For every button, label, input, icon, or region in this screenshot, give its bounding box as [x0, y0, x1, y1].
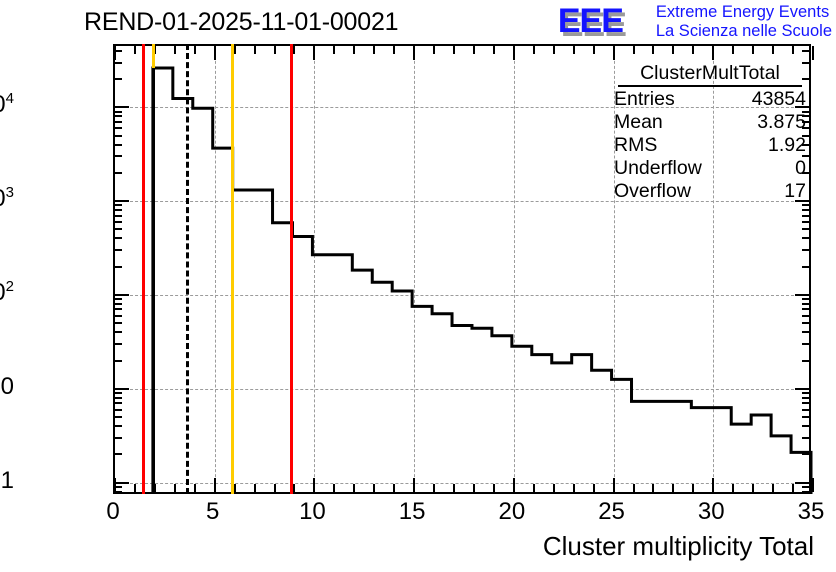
stats-row: Overflow17	[612, 180, 808, 203]
marker-line-red-high	[290, 44, 293, 494]
marker-line-gold-high	[231, 44, 234, 494]
x-axis-tick-label: 5	[206, 498, 219, 526]
stats-row-label: Overflow	[614, 180, 691, 203]
marker-line-black-mean	[186, 44, 189, 494]
y-axis-tick-label: 104	[0, 91, 14, 119]
plot-canvas: REND-01-2025-11-01-00021 EEE EEE Extreme…	[0, 0, 836, 572]
marker-line-red-low	[142, 44, 145, 494]
stats-row-label: RMS	[614, 134, 657, 157]
x-axis-tick-label: 35	[798, 498, 825, 526]
x-axis-title: Cluster multiplicity Total	[543, 531, 814, 562]
marker-line-black-low	[152, 44, 155, 494]
eee-logo: EEE EEE Extreme Energy Events La Scienza…	[558, 2, 832, 42]
stats-row: RMS1.92	[612, 134, 808, 157]
stats-row: Underflow0	[612, 157, 808, 180]
eee-logo-text: Extreme Energy Events La Scienza nelle S…	[656, 3, 832, 41]
stats-row-label: Underflow	[614, 157, 702, 180]
stats-title: ClusterMultTotal	[618, 62, 802, 87]
y-axis-tick-label: 1	[1, 467, 14, 495]
x-axis-tick	[812, 46, 814, 60]
eee-logo-line2: La Scienza nelle Scuole	[656, 22, 832, 41]
eee-logo-line1: Extreme Energy Events	[656, 3, 832, 22]
page-title: REND-01-2025-11-01-00021	[84, 8, 398, 37]
stats-row-value: 1.92	[768, 134, 806, 157]
stats-row-value: 43854	[752, 88, 806, 111]
x-axis-tick-label: 15	[399, 498, 426, 526]
stats-row-value: 17	[784, 180, 806, 203]
x-axis-tick-label: 20	[498, 498, 525, 526]
stats-row-label: Mean	[614, 111, 663, 134]
stats-row-value: 0	[795, 157, 806, 180]
y-axis-tick-label: 103	[0, 185, 14, 213]
y-axis-tick-label: 102	[0, 279, 14, 307]
stats-row-value: 3.875	[757, 111, 806, 134]
x-axis-tick-label: 30	[698, 498, 725, 526]
eee-logo-mark-front: EEE	[558, 4, 623, 38]
x-axis-tick-label: 10	[299, 498, 326, 526]
stats-row-label: Entries	[614, 88, 675, 111]
stats-box: ClusterMultTotal Entries43854Mean3.875RM…	[612, 62, 808, 203]
x-axis-tick-label: 0	[106, 498, 119, 526]
x-axis-tick-label: 25	[598, 498, 625, 526]
y-axis-tick-label: 10	[0, 373, 14, 401]
stats-row: Mean3.875	[612, 111, 808, 134]
marker-line-gold-low	[152, 44, 155, 68]
eee-logo-mark: EEE EEE	[558, 4, 650, 40]
stats-row: Entries43854	[612, 88, 808, 111]
